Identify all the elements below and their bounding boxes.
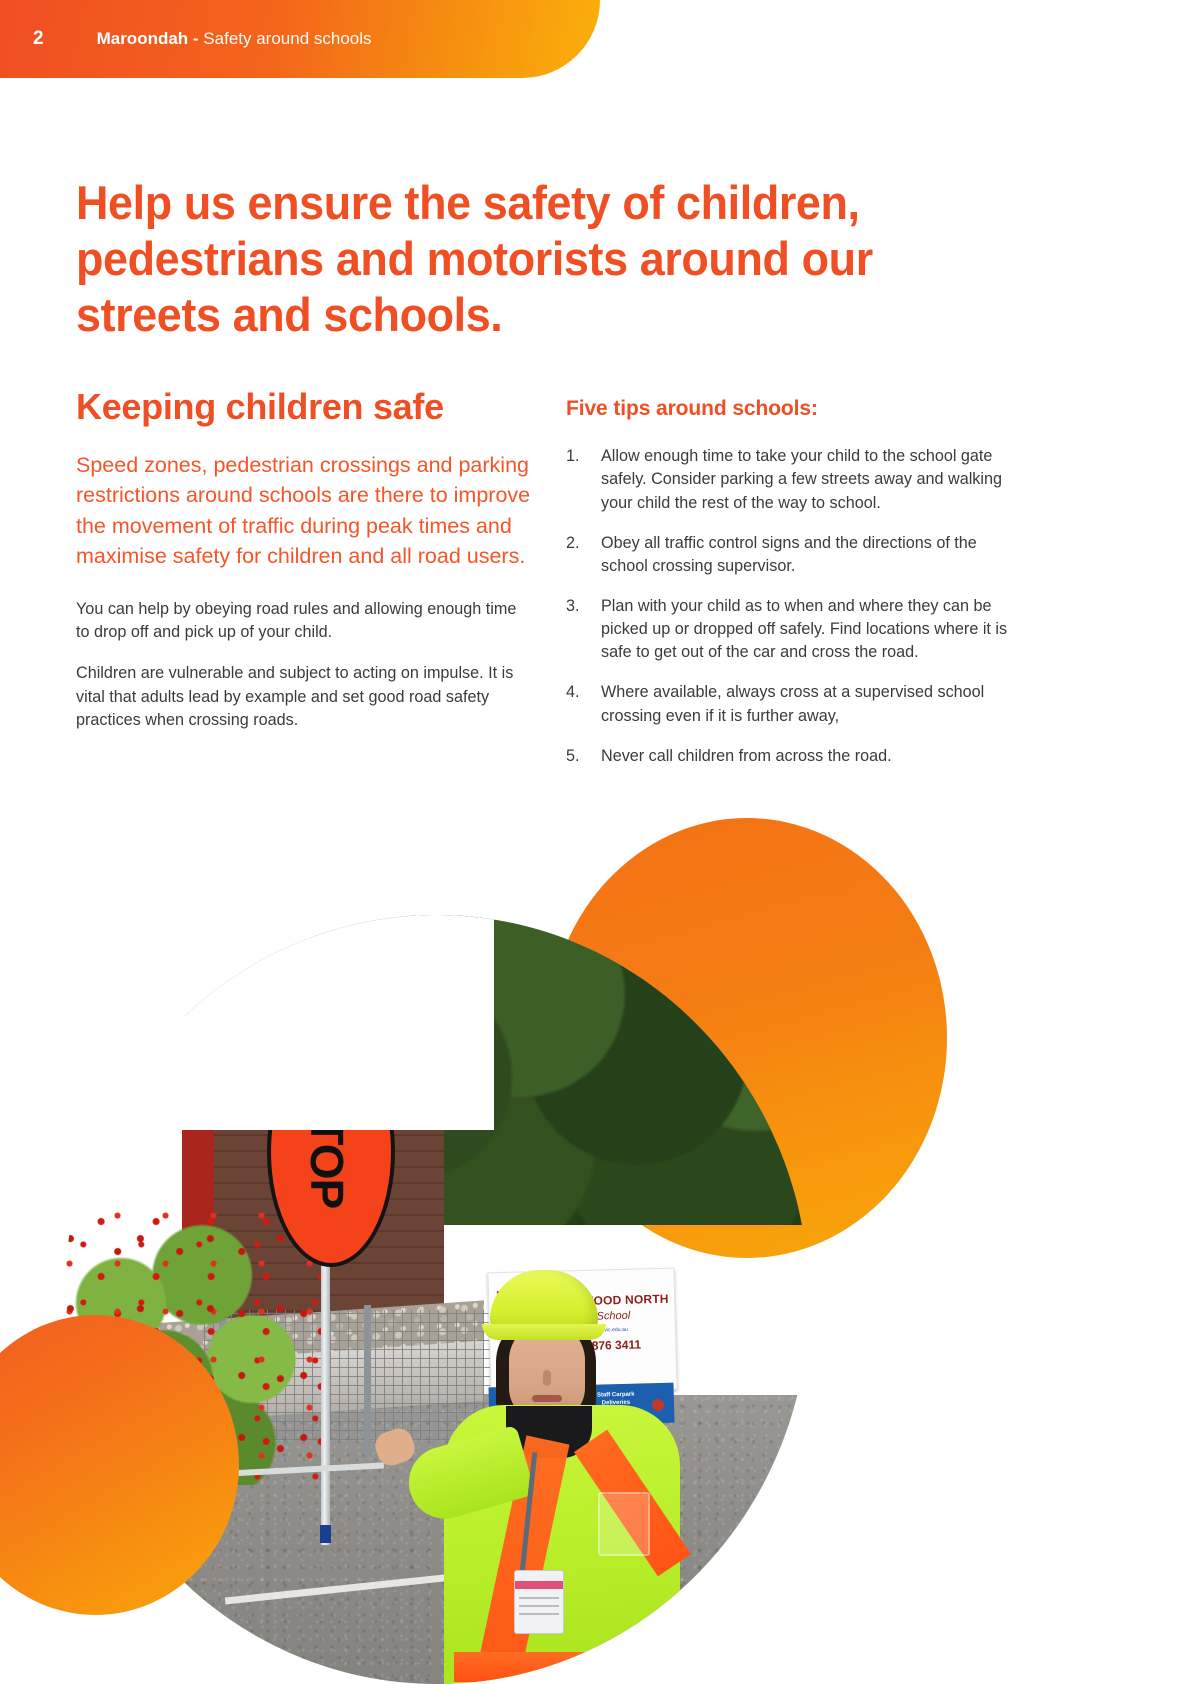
left-column: Keeping children safe Speed zones, pedes… <box>76 386 531 750</box>
right-column-heading: Five tips around schools: <box>566 396 1016 421</box>
header-brand: Maroondah - <box>97 29 199 48</box>
reflective-patch <box>598 1492 650 1556</box>
tip-number: 2. <box>566 532 592 555</box>
stop-sign-pole <box>321 1245 330 1545</box>
tips-list: 1. Allow enough time to take your child … <box>566 445 1016 768</box>
tip-text: Where available, always cross at a super… <box>601 683 984 724</box>
list-item: 4. Where available, always cross at a su… <box>566 681 1016 727</box>
list-item: 2. Obey all traffic control signs and th… <box>566 532 1016 578</box>
tip-text: Never call children from across the road… <box>601 747 892 765</box>
page-headline: Help us ensure the safety of children, p… <box>76 175 897 343</box>
left-column-heading: Keeping children safe <box>76 386 531 428</box>
left-column-lede: Speed zones, pedestrian crossings and pa… <box>76 450 531 572</box>
tip-text: Plan with your child as to when and wher… <box>601 597 1007 661</box>
photo-top-left-mask <box>64 915 494 1130</box>
page-number: 2 <box>33 28 44 50</box>
list-item: 1. Allow enough time to take your child … <box>566 445 1016 514</box>
crossing-supervisor <box>414 1270 704 1684</box>
brochure-page: 2 Maroondah - Safety around schools Help… <box>0 0 1191 1684</box>
tip-text: Obey all traffic control signs and the d… <box>601 534 977 575</box>
supervisor-nose <box>543 1370 551 1386</box>
supervisor-mouth <box>532 1395 562 1402</box>
tip-number: 1. <box>566 445 592 468</box>
badge-colour-strip <box>515 1581 563 1589</box>
header-title: Maroondah - Safety around schools <box>97 29 372 49</box>
helmet-brim <box>482 1324 606 1340</box>
fence-post <box>364 1305 371 1455</box>
list-item: 5. Never call children from across the r… <box>566 745 1016 768</box>
page-header: 2 Maroondah - Safety around schools <box>0 0 600 78</box>
left-column-paragraph-1: You can help by obeying road rules and a… <box>76 598 531 645</box>
header-section: Safety around schools <box>199 29 372 48</box>
tip-number: 4. <box>566 681 592 704</box>
left-column-paragraph-2: Children are vulnerable and subject to a… <box>76 662 531 732</box>
artwork-area: RINGWOOD NORTH Primary School www.ringwo… <box>0 800 1191 1684</box>
badge-text-line <box>519 1597 559 1599</box>
badge-text-line <box>519 1605 559 1607</box>
id-badge <box>514 1570 564 1634</box>
tip-number: 5. <box>566 745 592 768</box>
stop-sign-pole-grip <box>320 1525 331 1543</box>
badge-text-line <box>519 1613 559 1615</box>
coat-pocket <box>574 1662 648 1684</box>
list-item: 3. Plan with your child as to when and w… <box>566 595 1016 664</box>
tip-text: Allow enough time to take your child to … <box>601 447 1002 511</box>
tip-number: 3. <box>566 595 592 618</box>
right-column: Five tips around schools: 1. Allow enoug… <box>566 396 1016 785</box>
